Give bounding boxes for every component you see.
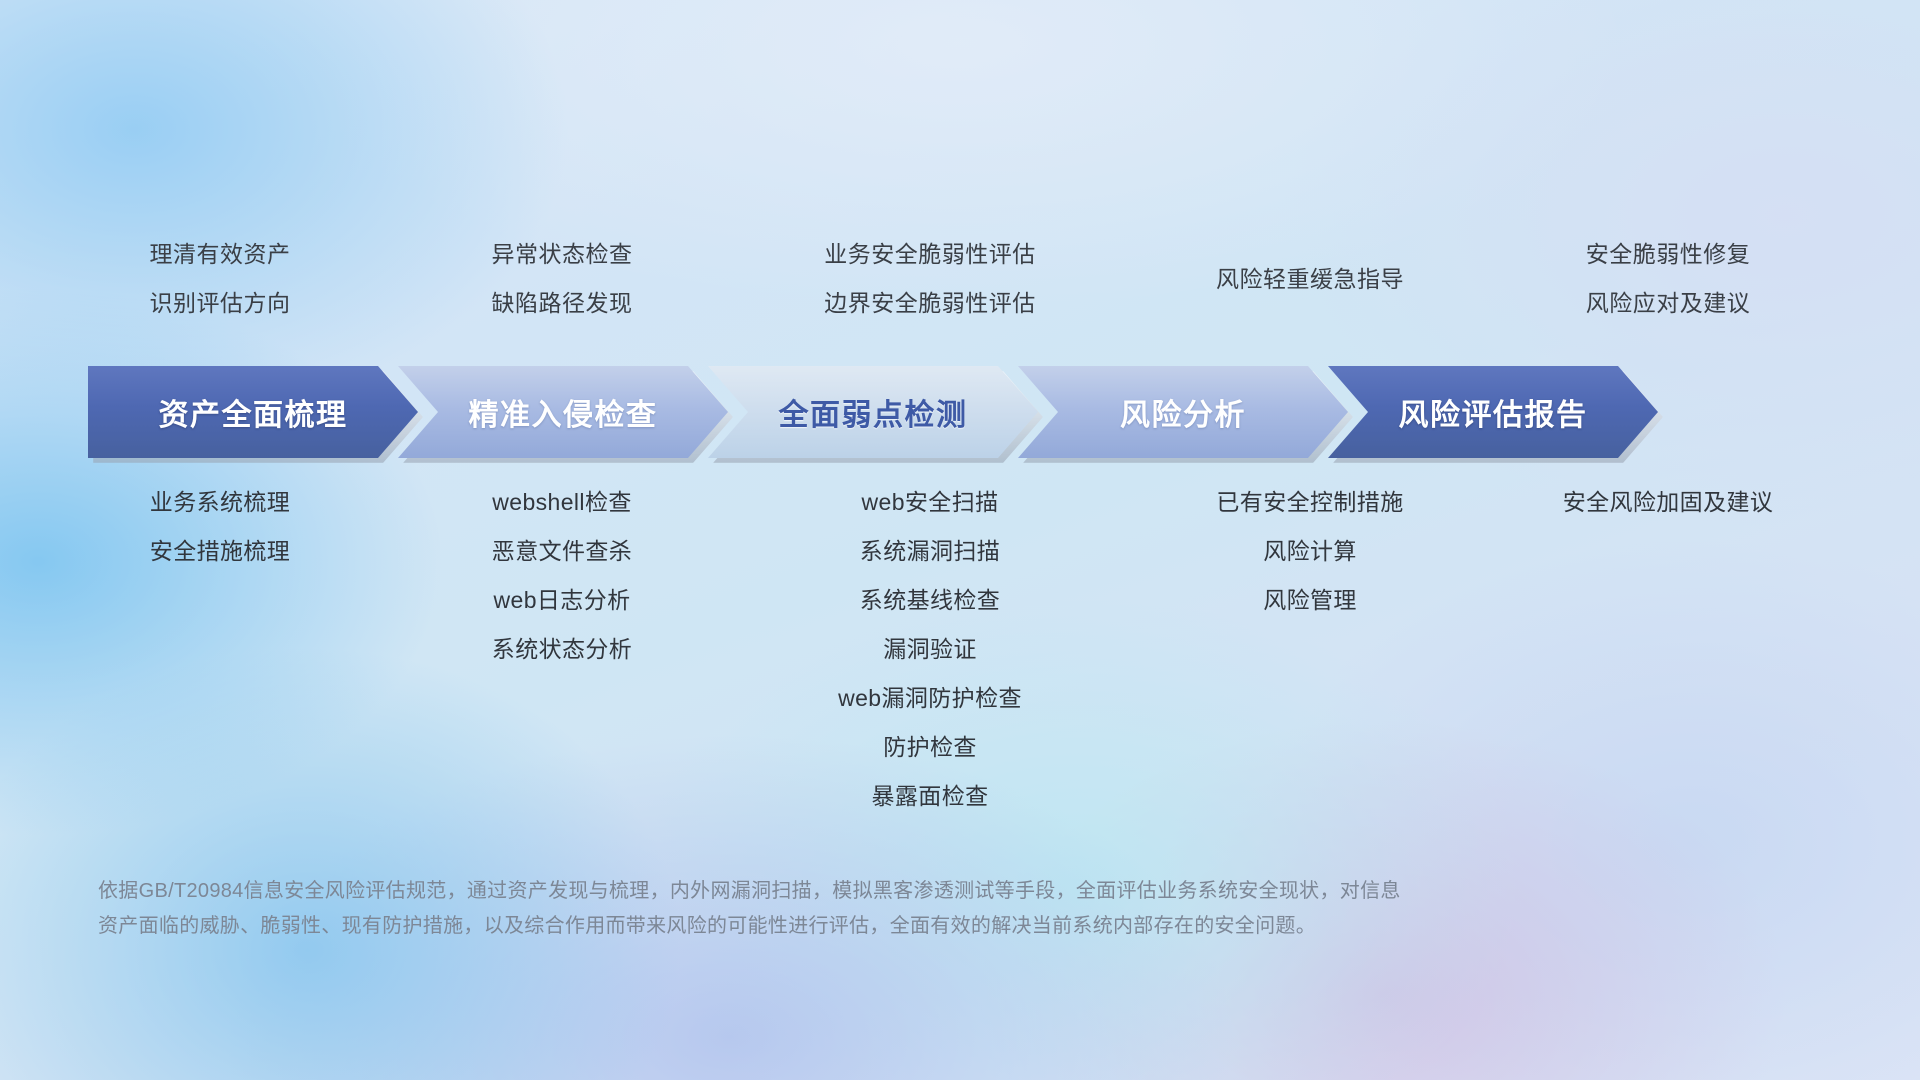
footer-line-2: 资产面临的威胁、脆弱性、现有防护措施，以及综合作用而带来风险的可能性进行评估，全… (98, 909, 1658, 944)
process-stage-2[interactable]: 精准入侵检查 (398, 366, 728, 458)
stage-title: 精准入侵检查 (469, 390, 658, 434)
top-label: 风险轻重缓急指导 (1216, 255, 1404, 304)
detail-list-stage-1: 业务系统梳理安全措施梳理 (70, 478, 370, 576)
detail-item: 安全措施梳理 (150, 527, 290, 576)
top-labels-stage-4: 风险轻重缓急指导 (1130, 255, 1490, 304)
detail-item: 系统漏洞扫描 (860, 527, 1000, 576)
footer-line-1: 依据GB/T20984信息安全风险评估规范，通过资产发现与梳理，内外网漏洞扫描，… (98, 874, 1658, 909)
top-label: 边界安全脆弱性评估 (824, 279, 1036, 328)
detail-item: 防护检查 (883, 723, 977, 772)
top-label: 安全脆弱性修复 (1586, 230, 1751, 279)
detail-list-stage-3: web安全扫描系统漏洞扫描系统基线检查漏洞验证web漏洞防护检查防护检查暴露面检… (730, 478, 1130, 821)
detail-item: 漏洞验证 (883, 625, 977, 674)
top-labels-row: 理清有效资产识别评估方向异常状态检查缺陷路径发现业务安全脆弱性评估边界安全脆弱性… (0, 230, 1920, 350)
detail-list-stage-5: 安全风险加固及建议 (1478, 478, 1858, 527)
process-stage-5[interactable]: 风险评估报告 (1328, 366, 1658, 458)
process-stage-1[interactable]: 资产全面梳理 (88, 366, 418, 458)
top-labels-stage-3: 业务安全脆弱性评估边界安全脆弱性评估 (730, 230, 1130, 328)
top-label: 业务安全脆弱性评估 (824, 230, 1036, 279)
detail-item: web安全扫描 (862, 478, 999, 527)
detail-item: web日志分析 (494, 576, 631, 625)
top-label: 异常状态检查 (492, 230, 633, 279)
detail-item: 恶意文件查杀 (492, 527, 632, 576)
stage-title: 资产全面梳理 (159, 390, 348, 434)
stage-title: 风险评估报告 (1399, 390, 1588, 434)
detail-list-stage-4: 已有安全控制措施风险计算风险管理 (1130, 478, 1490, 625)
detail-item: 风险计算 (1263, 527, 1357, 576)
process-stage-4[interactable]: 风险分析 (1018, 366, 1348, 458)
footer-description: 依据GB/T20984信息安全风险评估规范，通过资产发现与梳理，内外网漏洞扫描，… (98, 874, 1658, 944)
detail-item: 系统基线检查 (860, 576, 1000, 625)
top-label: 风险应对及建议 (1586, 279, 1751, 328)
detail-item: 风险管理 (1263, 576, 1357, 625)
stage-title: 全面弱点检测 (779, 390, 968, 434)
slide-canvas: 理清有效资产识别评估方向异常状态检查缺陷路径发现业务安全脆弱性评估边界安全脆弱性… (0, 0, 1920, 1080)
top-label: 识别评估方向 (150, 279, 291, 328)
detail-item: webshell检查 (492, 478, 632, 527)
top-labels-stage-5: 安全脆弱性修复风险应对及建议 (1478, 230, 1858, 328)
detail-list-stage-2: webshell检查恶意文件查杀web日志分析系统状态分析 (397, 478, 727, 674)
process-stage-3[interactable]: 全面弱点检测 (708, 366, 1038, 458)
top-label: 缺陷路径发现 (492, 279, 633, 328)
stage-title: 风险分析 (1120, 390, 1246, 434)
bottom-details-row: 业务系统梳理安全措施梳理webshell检查恶意文件查杀web日志分析系统状态分… (0, 478, 1920, 828)
process-chevron-banner: 资产全面梳理精准入侵检查全面弱点检测风险分析风险评估报告 (0, 366, 1920, 458)
detail-item: web漏洞防护检查 (838, 674, 1022, 723)
detail-item: 安全风险加固及建议 (1563, 478, 1774, 527)
detail-item: 系统状态分析 (492, 625, 632, 674)
top-labels-stage-1: 理清有效资产识别评估方向 (70, 230, 370, 328)
detail-item: 已有安全控制措施 (1216, 478, 1403, 527)
detail-item: 业务系统梳理 (150, 478, 290, 527)
top-labels-stage-2: 异常状态检查缺陷路径发现 (397, 230, 727, 328)
detail-item: 暴露面检查 (872, 772, 989, 821)
top-label: 理清有效资产 (150, 230, 291, 279)
